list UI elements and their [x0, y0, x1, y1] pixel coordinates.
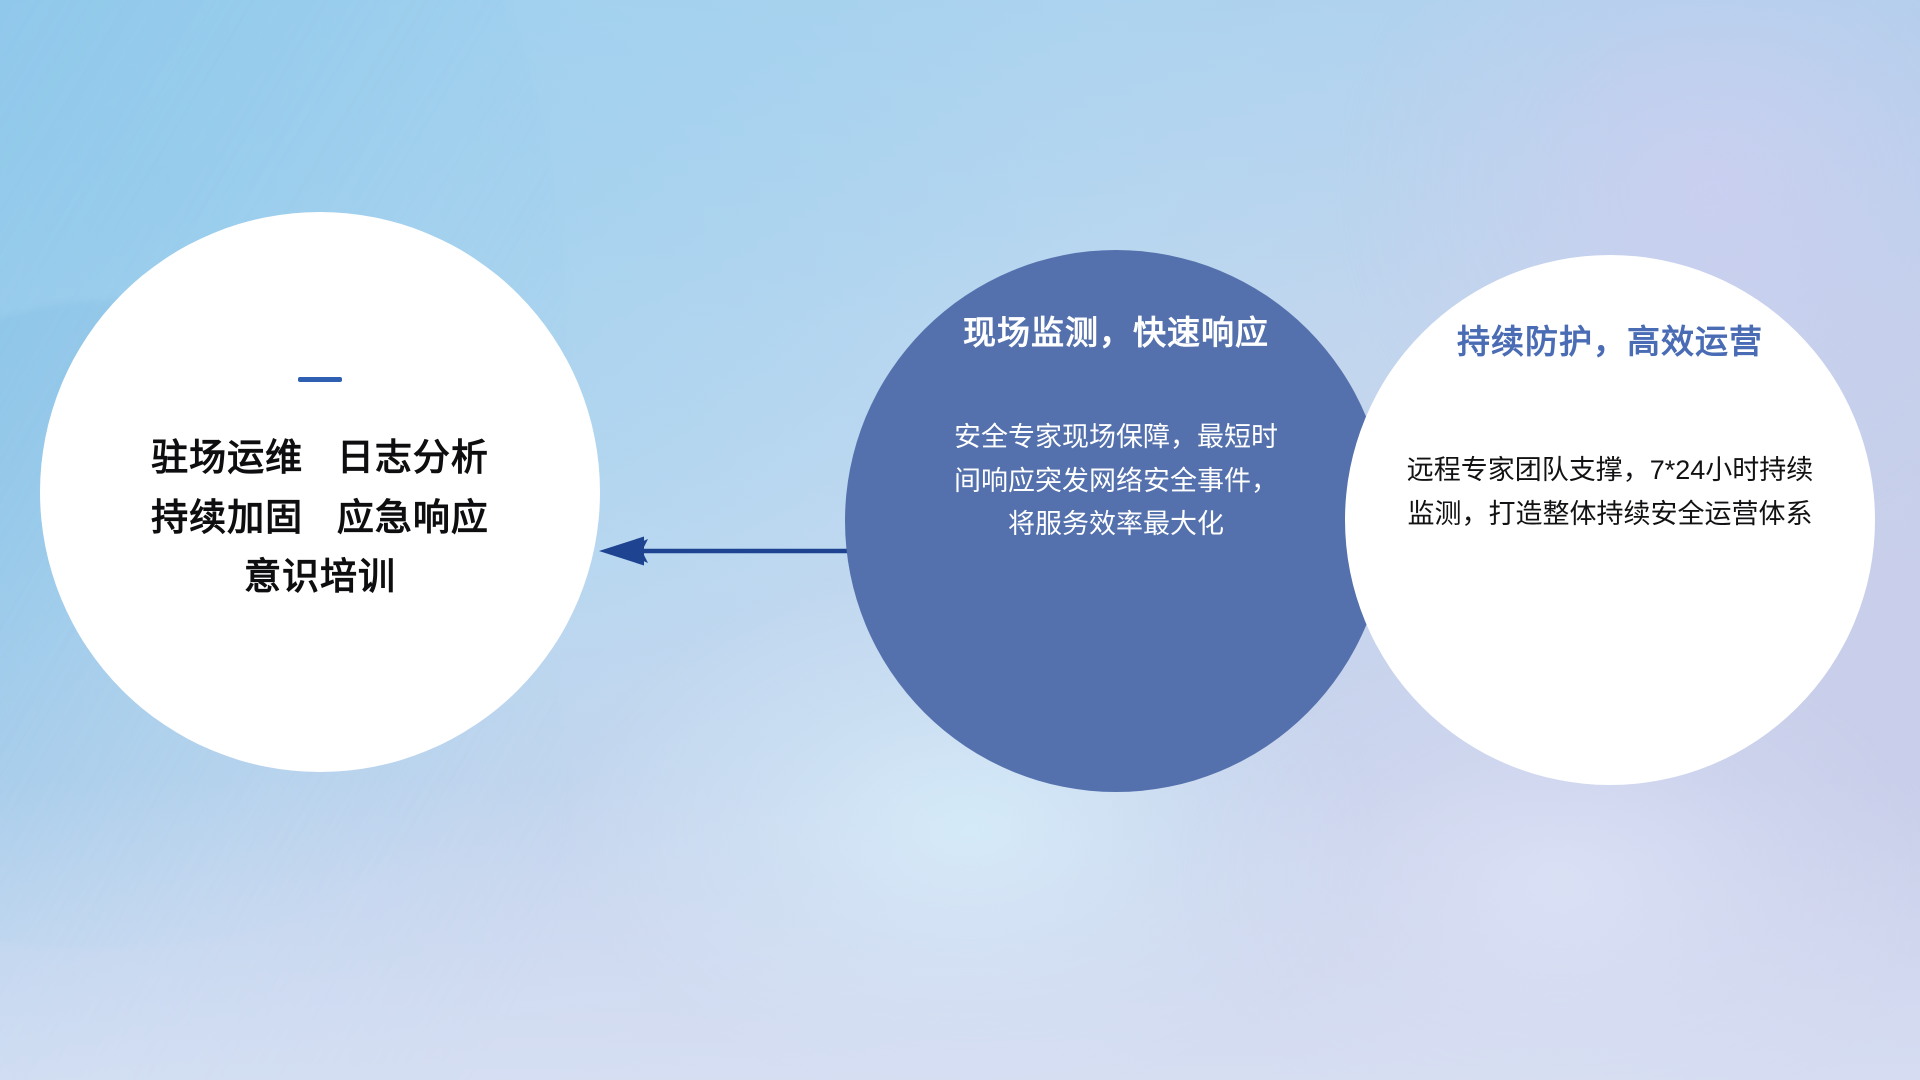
left-circle-line-1: 驻场运维 日志分析: [151, 428, 489, 488]
onsite-monitoring-title: 现场监测，快速响应: [963, 306, 1269, 354]
left-circle-line-2: 持续加固 应急响应: [151, 488, 489, 548]
continuous-protection-circle[interactable]: 持续防护，高效运营 远程专家团队支撑，7*24小时持续监测，打造整体持续安全运营…: [1345, 255, 1875, 785]
continuous-protection-body: 远程专家团队支撑，7*24小时持续监测，打造整体持续安全运营体系: [1400, 449, 1820, 536]
left-circle-keyword-list: 驻场运维 日志分析 持续加固 应急响应 意识培训: [151, 428, 489, 608]
continuous-protection-title: 持续防护，高效运营: [1457, 315, 1763, 363]
background-bottom-sheen: [0, 778, 1920, 1080]
left-circle-line-3: 意识培训: [151, 547, 489, 607]
slide-canvas: 驻场运维 日志分析 持续加固 应急响应 意识培训 现场监测，快速响应 安全专家现…: [0, 0, 1920, 1080]
left-service-circle[interactable]: 驻场运维 日志分析 持续加固 应急响应 意识培训: [40, 212, 600, 772]
dash-marker-icon: [298, 377, 342, 382]
onsite-monitoring-content: 现场监测，快速响应 安全专家现场保障，最短时间响应突发网络安全事件，将服务效率最…: [845, 306, 1387, 547]
continuous-protection-content: 持续防护，高效运营 远程专家团队支撑，7*24小时持续监测，打造整体持续安全运营…: [1345, 315, 1875, 536]
onsite-monitoring-body: 安全专家现场保障，最短时间响应突发网络安全事件，将服务效率最大化: [946, 416, 1286, 547]
onsite-monitoring-circle[interactable]: 现场监测，快速响应 安全专家现场保障，最短时间响应突发网络安全事件，将服务效率最…: [845, 250, 1387, 792]
